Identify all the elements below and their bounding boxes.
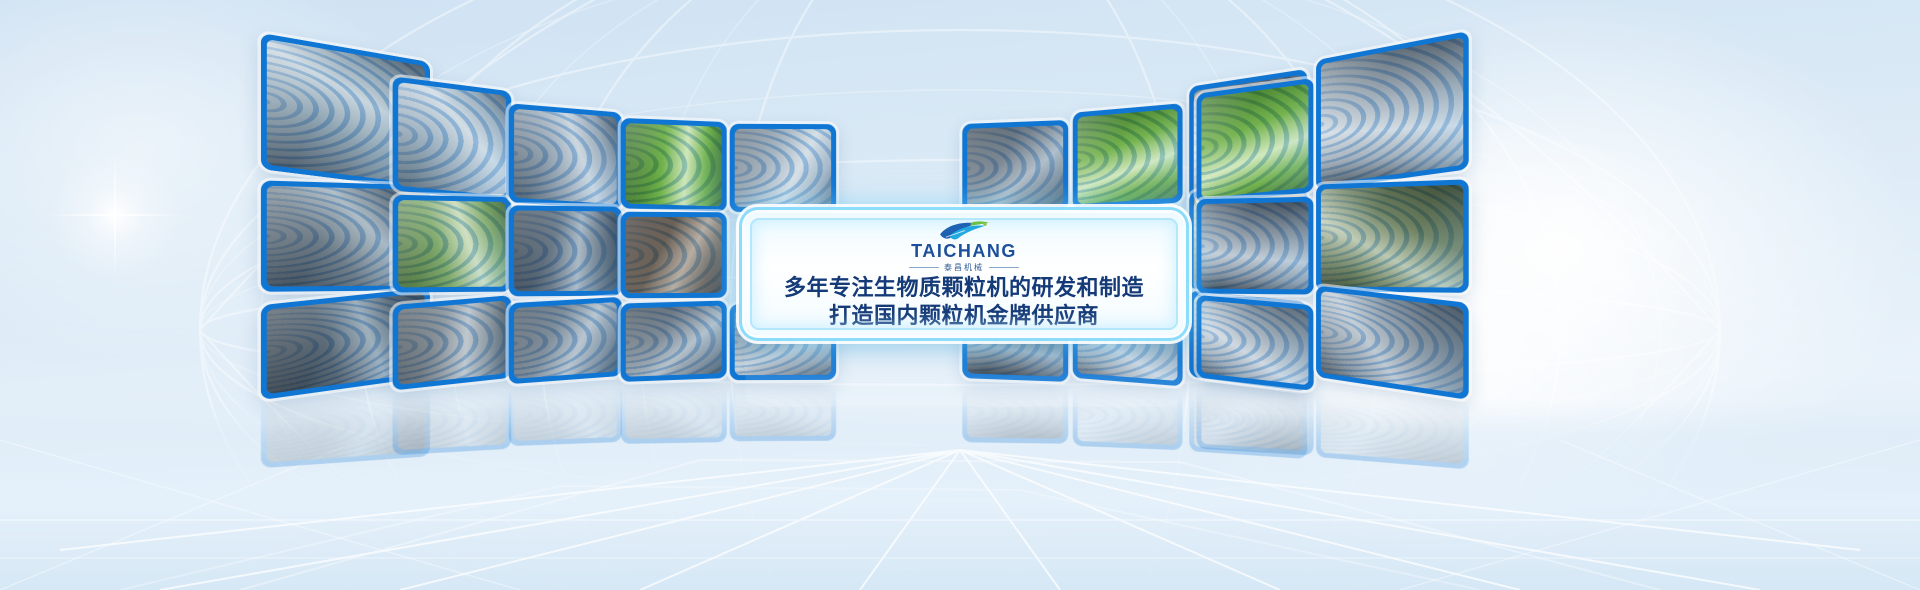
tile-sheen [514,302,617,379]
photo-tile-inner [735,129,831,207]
photo-tile-inner [626,123,722,206]
photo-tile-inner [1321,185,1463,288]
photo-tile[interactable] [1316,286,1469,400]
photo-tile[interactable] [509,103,622,209]
message-panel-reflection [745,337,1183,407]
tile-sheen [514,109,617,204]
photo-tile[interactable] [621,118,727,212]
photo-tile[interactable] [393,76,512,201]
tile-sheen [1201,84,1308,199]
photo-tile-inner [514,109,617,204]
rule-left [909,267,939,268]
photo-tile-inner [514,210,617,291]
brand-chinese-row: 泰昌机械 [909,262,1019,273]
rule-right [989,267,1019,268]
tile-sheen [398,300,506,384]
photo-tile[interactable] [1316,179,1469,293]
photo-tile-inner [626,217,722,293]
brand-logo[interactable]: TAICHANG 泰昌机械 [909,220,1019,273]
photo-tile-inner [1078,109,1178,205]
photo-tile-inner [398,389,506,450]
tile-sheen [1321,37,1463,185]
photo-tile-reflection [393,384,512,456]
photo-tile-inner [398,82,506,196]
hero-banner-stage: TAICHANG 泰昌机械 多年专注生物质颗粒机的研发和制造 打造国内颗粒机金牌… [0,0,1920,590]
tile-sheen [626,386,722,438]
photo-tile-inner [398,300,506,384]
photo-tile[interactable] [1197,197,1314,295]
tile-sheen [626,217,722,293]
photo-tile-reflection [1316,386,1469,469]
photo-tile-inner [626,306,722,377]
photo-tile-reflection [509,381,622,447]
tile-sheen [1078,109,1178,205]
photo-tile-inner [1321,291,1463,394]
tile-sheen [1321,291,1463,394]
photo-tile-inner [514,302,617,379]
photo-tile[interactable] [730,124,836,212]
photo-tile[interactable] [1316,31,1469,190]
photo-tile-inner [1321,37,1463,185]
photo-tile[interactable] [509,205,622,296]
tile-sheen [514,386,617,441]
headline-line-1: 多年专注生物质颗粒机的研发和制造 [784,275,1144,303]
photo-tile[interactable] [1073,103,1183,209]
photo-tile-inner [967,125,1063,208]
photo-tile-inner [398,200,506,287]
photo-tile[interactable] [621,212,727,298]
brand-wordmark: TAICHANG [911,242,1017,260]
photo-tile[interactable] [1197,78,1314,204]
photo-tile[interactable] [621,300,727,381]
photo-tile[interactable] [1197,295,1314,391]
photo-tile[interactable] [509,297,622,384]
tile-sheen [1201,389,1308,450]
photo-tile-inner [1201,84,1308,199]
photo-tile[interactable] [393,295,512,390]
tile-sheen [626,306,722,377]
tile-sheen [1321,391,1463,463]
brand-chinese-name: 泰昌机械 [944,262,984,273]
photo-tile-inner [1201,389,1308,450]
tile-sheen [398,389,506,450]
photo-tile-inner [1321,391,1463,463]
tile-sheen [398,200,506,287]
tile-sheen [1321,185,1463,288]
photo-tile-inner [1201,300,1308,385]
message-panel: TAICHANG 泰昌机械 多年专注生物质颗粒机的研发和制造 打造国内颗粒机金牌… [745,213,1183,335]
tile-sheen [1201,202,1308,290]
photo-tile-inner [514,386,617,441]
swoosh-bird-icon [934,220,994,241]
photo-tile[interactable] [962,120,1068,214]
photo-tile-inner [626,386,722,438]
photo-tile-reflection [621,381,727,443]
photo-tile-reflection [1197,384,1314,456]
photo-tile[interactable] [393,195,512,293]
tile-sheen [514,210,617,291]
tile-sheen [967,125,1063,208]
tile-sheen [626,123,722,206]
tile-sheen [398,82,506,196]
headline-line-2: 打造国内颗粒机金牌供应商 [829,303,1099,331]
tile-sheen [735,129,831,207]
photo-tile-inner [1201,202,1308,290]
tile-sheen [1201,300,1308,385]
